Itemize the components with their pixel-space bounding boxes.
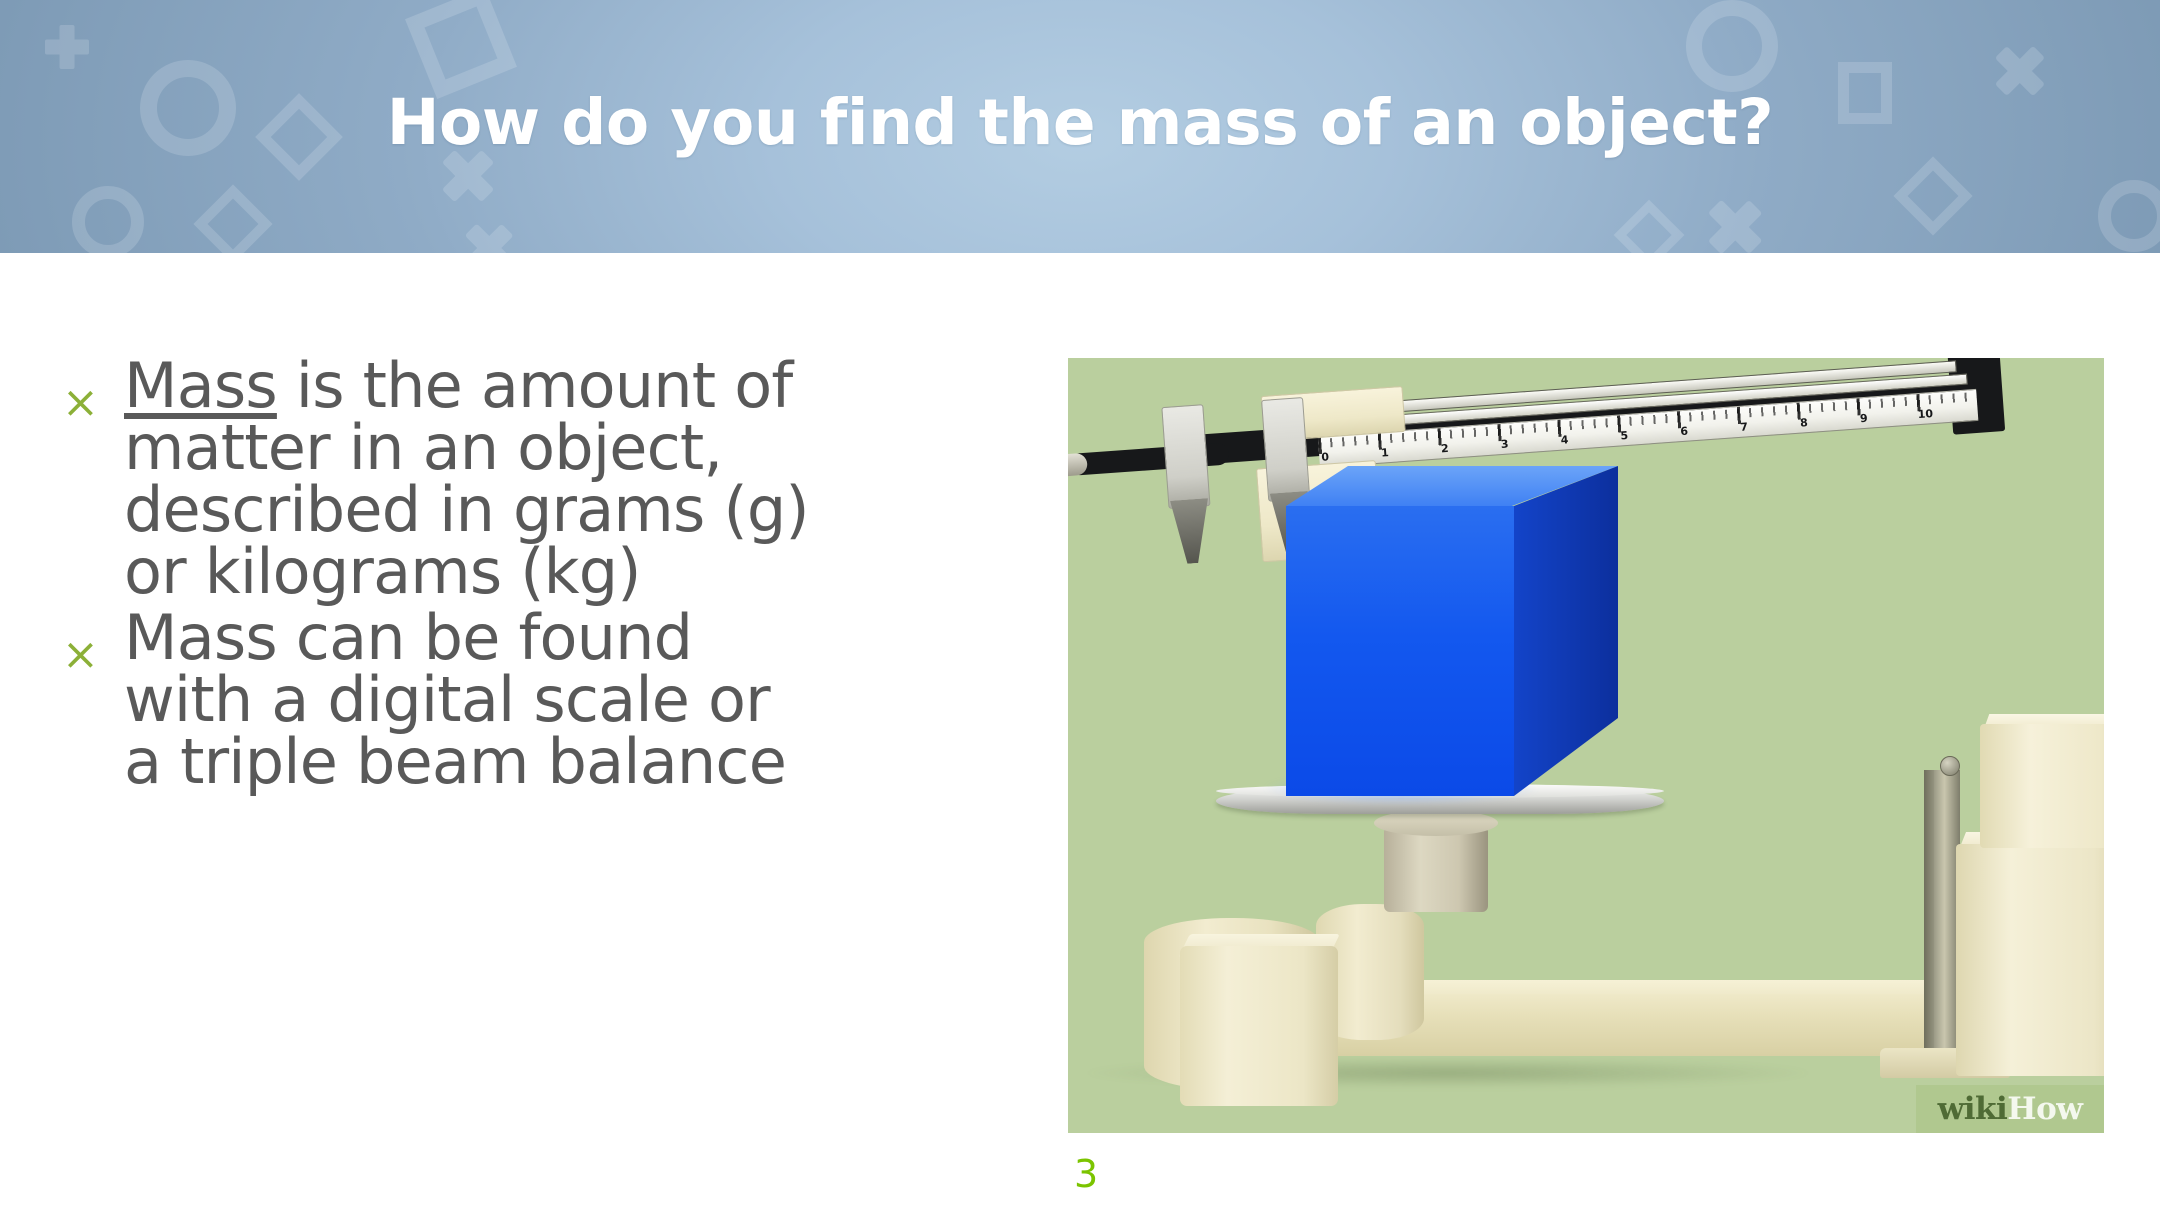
bullet-text: Mass is the amount of matter in an objec… — [124, 355, 824, 603]
scale-number: 0 — [1321, 450, 1330, 464]
watermark-how: How — [2007, 1094, 2082, 1125]
scale-number: 9 — [1859, 412, 1868, 426]
post-lower-body — [1956, 844, 2104, 1076]
blue-cube — [1286, 506, 1514, 796]
x-bullet-icon: × — [62, 355, 124, 425]
scale-number: 5 — [1620, 429, 1629, 443]
post-upper-body — [1980, 724, 2104, 848]
scale-number: 7 — [1740, 420, 1749, 434]
wikihow-watermark: wikiHow — [1916, 1085, 2104, 1133]
list-item: × Mass can be found with a digital scale… — [62, 607, 1062, 793]
scale-number: 10 — [1917, 407, 1933, 421]
pan-column — [1384, 826, 1488, 912]
scale-number: 6 — [1680, 425, 1689, 439]
list-item: × Mass is the amount of matter in an obj… — [62, 355, 1062, 603]
bracket-leg — [1170, 498, 1212, 565]
scale-number: 1 — [1381, 446, 1390, 460]
bullet-text: Mass can be found with a digital scale o… — [124, 607, 824, 793]
scale-number: 3 — [1500, 438, 1509, 452]
presentation-slide: How do you find the mass of an object? ×… — [0, 0, 2160, 1215]
slide-title: How do you find the mass of an object? — [0, 0, 2160, 253]
triple-beam-balance-image: 0 1 2 3 4 5 6 7 8 9 10 — [1068, 358, 2104, 1133]
pedestal-block — [1180, 946, 1338, 1106]
bullet-list: × Mass is the amount of matter in an obj… — [62, 355, 1062, 797]
scale-number: 4 — [1560, 433, 1569, 447]
scale-number: 2 — [1441, 442, 1450, 456]
cube-right-face — [1514, 466, 1618, 796]
slide-number: 3 — [1074, 1152, 1098, 1196]
watermark-wiki: wiki — [1938, 1094, 2008, 1125]
slide-header-banner: How do you find the mass of an object? — [0, 0, 2160, 253]
scale-number: 8 — [1800, 416, 1809, 430]
knife-edge-bracket — [1261, 397, 1310, 502]
x-bullet-icon: × — [62, 607, 124, 677]
pivot-screw — [1940, 756, 1960, 776]
knife-edge-bracket — [1161, 404, 1210, 509]
